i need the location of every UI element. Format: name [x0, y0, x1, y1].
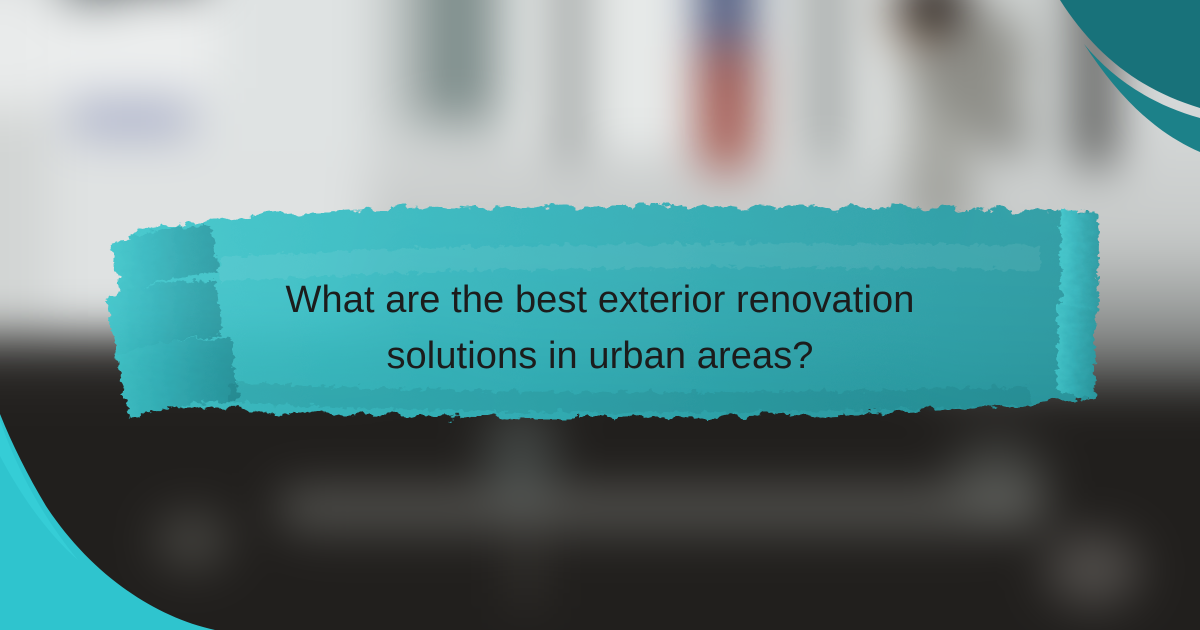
background-highlight-3 [155, 511, 229, 569]
social-card: What are the best exterior renovation so… [0, 0, 1200, 630]
background-light-spot [950, 437, 1045, 511]
background-dark-shape-top [59, 0, 123, 2]
page-title: What are the best exterior renovation so… [100, 272, 1100, 384]
background-table-leg [515, 522, 536, 607]
background-green-glass [420, 0, 494, 119]
background-wall-panel-3 [515, 0, 706, 151]
headline-line-2: solutions in urban areas? [170, 328, 1030, 384]
headline-banner: What are the best exterior renovation so… [100, 186, 1100, 436]
background-flag-red-stripes-2 [708, 98, 744, 172]
background-highlight-2 [1045, 532, 1140, 606]
background-blue-sign [72, 103, 191, 135]
headline-line-1: What are the best exterior renovation [170, 272, 1030, 328]
background-column-post-2 [1077, 0, 1113, 167]
background-table-edge [303, 516, 1003, 539]
background-column-post [812, 0, 840, 161]
background-window-mullion [558, 0, 581, 161]
background-person-hand [992, 119, 1028, 155]
